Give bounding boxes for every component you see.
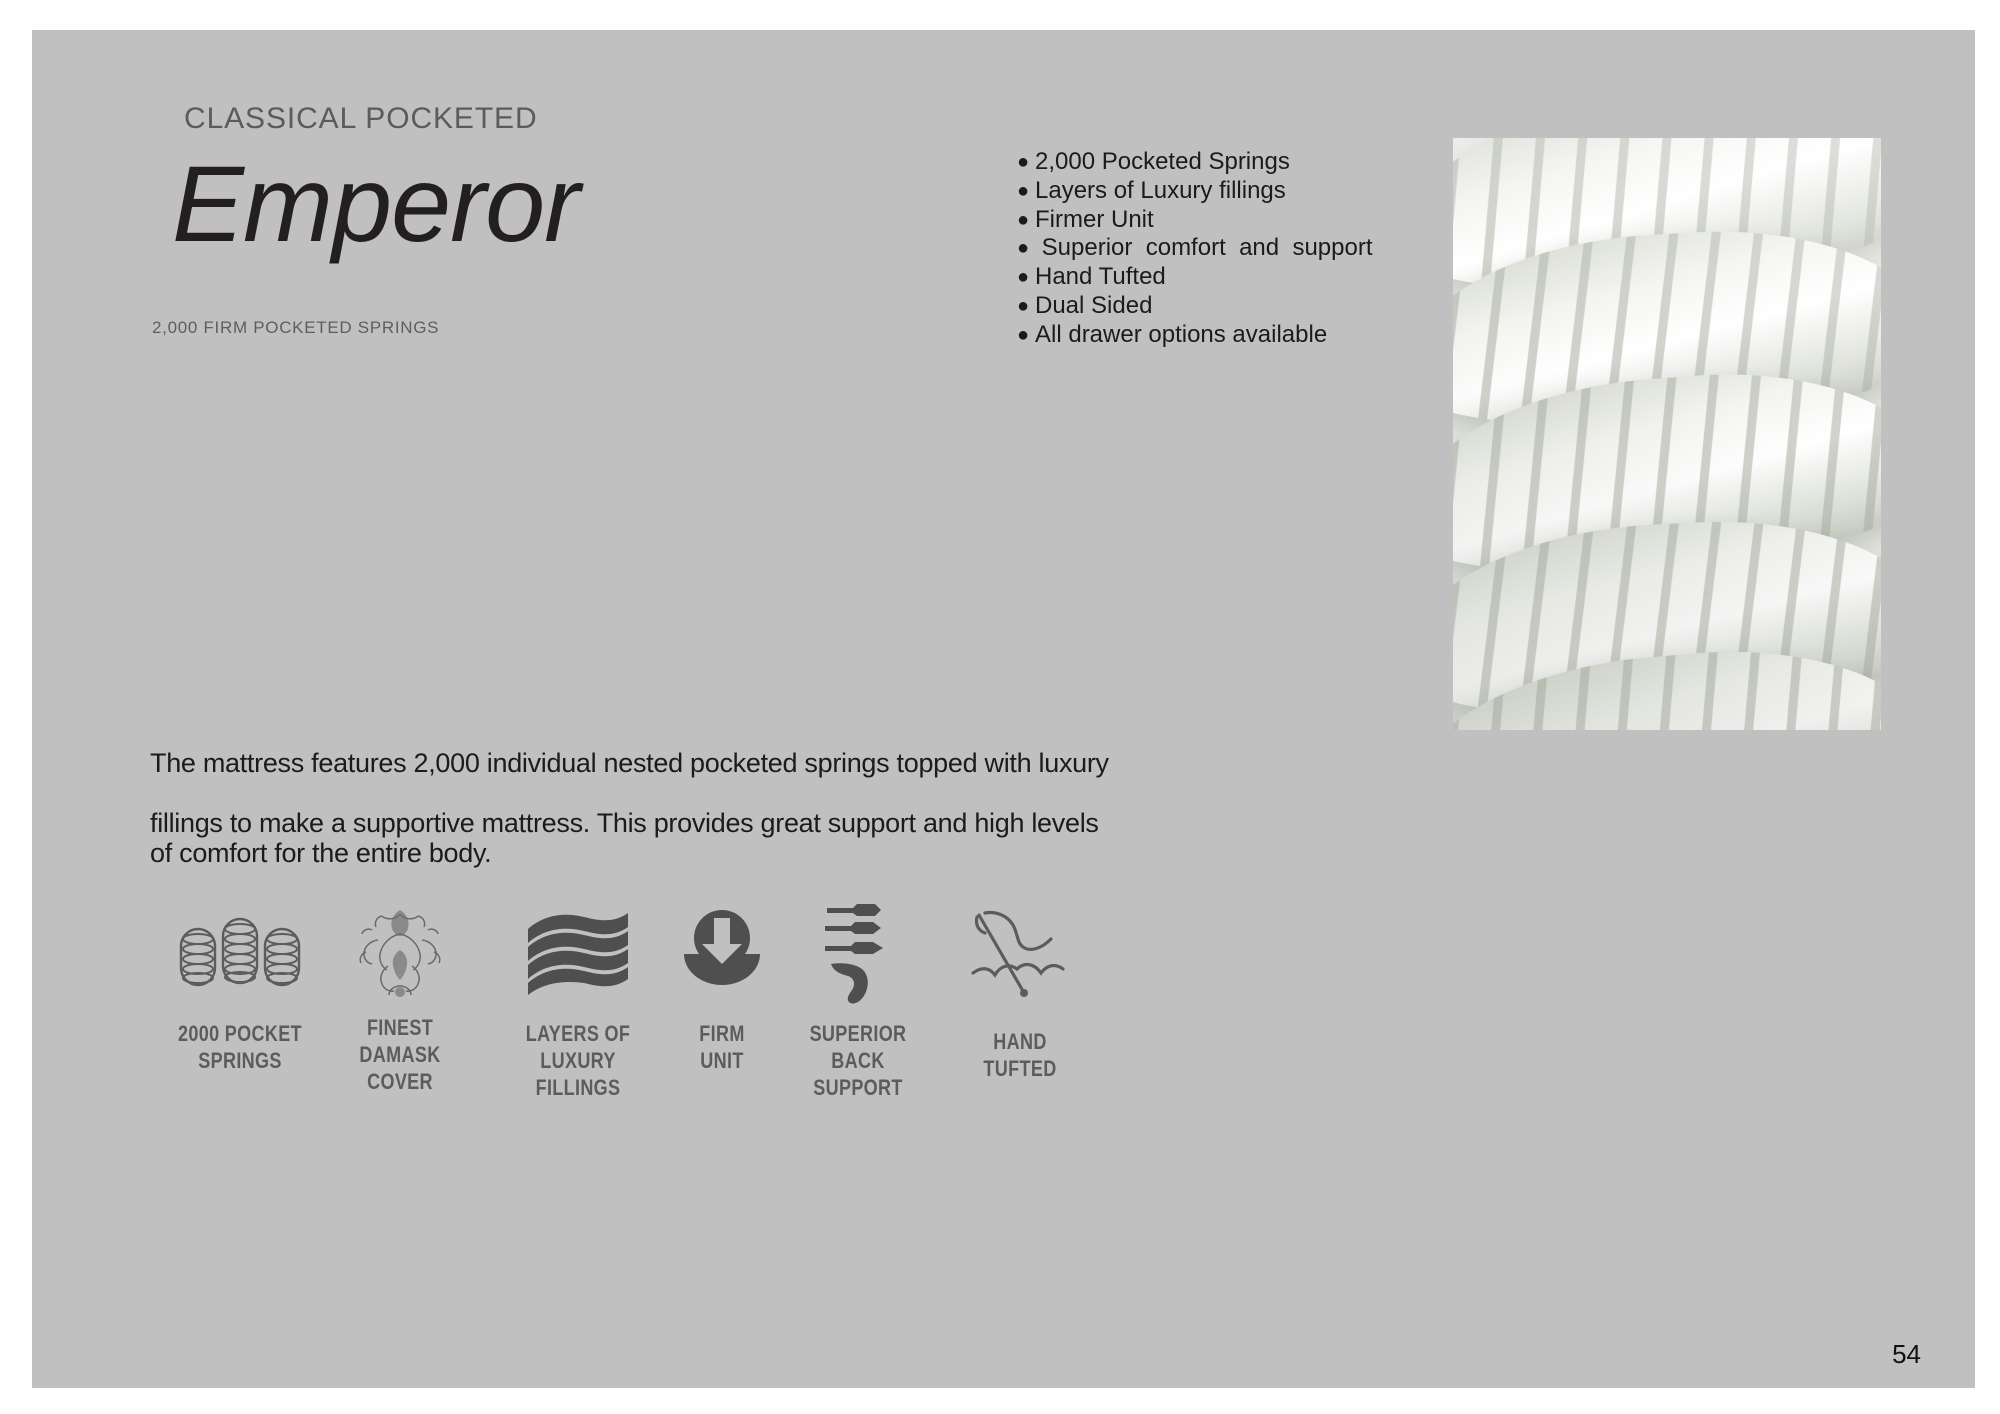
needle-thread-icon xyxy=(930,898,1110,1006)
bullet-icon: ● xyxy=(1017,292,1035,321)
product-photo xyxy=(1453,138,1881,730)
feature-label: Hand Tufted xyxy=(1035,263,1166,290)
feature-item: ●Firmer Unit xyxy=(1017,206,1373,235)
feature-icon-cell-back-support: SUPERIOR BACK SUPPORT xyxy=(768,898,948,1101)
spine-support-icon xyxy=(768,898,948,1006)
feature-icon-label: FINEST DAMASK COVER xyxy=(326,1014,474,1095)
feature-label: 2,000 Pocketed Springs xyxy=(1035,148,1290,175)
feature-item: ● Superior comfort and support xyxy=(1017,234,1373,263)
bullet-icon: ● xyxy=(1017,234,1035,263)
feature-item: ●2,000 Pocketed Springs xyxy=(1017,148,1373,177)
product-subtitle: 2,000 FIRM POCKETED SPRINGS xyxy=(152,318,439,338)
feature-icon-strip: 2000 POCKET SPRINGS xyxy=(150,898,1210,1128)
feature-item: ●Dual Sided xyxy=(1017,292,1373,321)
feature-item: ●Hand Tufted xyxy=(1017,263,1373,292)
feature-label: All drawer options available xyxy=(1035,321,1327,348)
damask-ornament-icon xyxy=(310,898,490,1006)
bullet-icon: ● xyxy=(1017,263,1035,292)
bullet-icon: ● xyxy=(1017,177,1035,206)
feature-label: Firmer Unit xyxy=(1035,206,1154,233)
feature-icon-label: HAND TUFTED xyxy=(946,1028,1094,1082)
description-line: fillings to make a supportive mattress. … xyxy=(150,808,1110,838)
feature-item: ●Layers of Luxury fillings xyxy=(1017,177,1373,206)
category-eyebrow: CLASSICAL POCKETED xyxy=(184,102,538,136)
feature-label: Layers of Luxury fillings xyxy=(1035,177,1286,204)
feature-icon-label: 2000 POCKET SPRINGS xyxy=(166,1020,314,1074)
photo-lighting-overlay xyxy=(1453,138,1881,730)
description-line: of comfort for the entire body. xyxy=(150,838,1110,868)
feature-icon-cell-damask-cover: FINEST DAMASK COVER xyxy=(310,898,490,1095)
feature-label: Dual Sided xyxy=(1035,292,1152,319)
bullet-icon: ● xyxy=(1017,206,1035,235)
page-title: Emperor xyxy=(172,150,579,258)
feature-label: Superior comfort and support xyxy=(1035,234,1373,261)
pocket-springs-icon xyxy=(150,898,330,1006)
feature-icon-label: SUPERIOR BACK SUPPORT xyxy=(784,1020,932,1101)
feature-item: ●All drawer options available xyxy=(1017,321,1373,350)
feature-icon-cell-pocket-springs: 2000 POCKET SPRINGS xyxy=(150,898,330,1074)
description-block: The mattress features 2,000 individual n… xyxy=(150,748,1110,868)
brochure-page: CLASSICAL POCKETED Emperor 2,000 FIRM PO… xyxy=(32,30,1975,1388)
description-line: The mattress features 2,000 individual n… xyxy=(150,748,1110,778)
page-number: 54 xyxy=(1892,1339,1921,1370)
feature-list: ●2,000 Pocketed Springs ●Layers of Luxur… xyxy=(1017,148,1373,350)
feature-icon-cell-hand-tufted: HAND TUFTED xyxy=(930,898,1110,1082)
bullet-icon: ● xyxy=(1017,321,1035,350)
bullet-icon: ● xyxy=(1017,148,1035,177)
feature-icon-label: LAYERS OF LUXURY FILLINGS xyxy=(504,1020,652,1101)
